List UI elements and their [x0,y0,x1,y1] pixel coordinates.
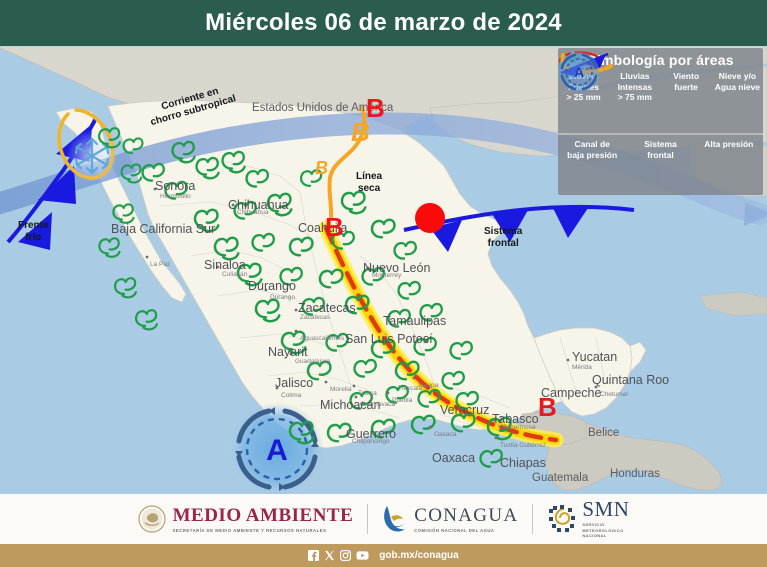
youtube-icon[interactable] [356,550,369,561]
logo-smn: SMN SERVICIO METEOROLÓGICO NACIONAL [547,499,629,539]
low-pressure-mark-coahuila: B [325,214,344,240]
trough-mark-north: B [351,119,370,145]
mexico-eagle-seal-icon [138,505,166,533]
smn-title: SMN [582,499,629,520]
logo-semarnat: MEDIO AMBIENTE SECRETARÍA DE MEDIO AMBIE… [138,505,354,533]
smn-subtitle: SERVICIO METEOROLÓGICO NACIONAL [582,522,629,539]
logo-conagua: CONAGUA COMISIÓN NACIONAL DEL AGUA [382,504,518,534]
legend-panel: Simbología por áreas Lluvias Fuertes > 2… [558,48,763,195]
weather-map[interactable]: A [0,46,767,494]
svg-text:A: A [266,434,288,467]
semarnat-title: MEDIO AMBIENTE [173,506,354,525]
legend-item-lluvias-intensas: Lluvias Intensas > 75 mm [609,71,660,130]
legend-item-alta-presion: Alta presión A [695,139,763,195]
logo-divider-2 [532,504,533,534]
conagua-subtitle: COMISIÓN NACIONAL DEL AGUA [414,528,518,533]
page-title: Miércoles 06 de marzo de 2024 [205,9,562,37]
semarnat-subtitle: SECRETARÍA DE MEDIO AMBIENTE Y RECURSOS … [173,528,354,533]
legend-item-sistema-frontal: Sistema frontal [626,139,694,195]
x-twitter-icon[interactable] [324,550,335,561]
legend-item-nieve-label: Nieve y/o Agua nieve [715,71,760,92]
legend-item-canal-label: Canal de baja presión [567,139,617,160]
instagram-icon[interactable] [340,550,351,561]
trough-mark-north-2: B [315,159,328,177]
logo-divider-1 [367,504,368,534]
conagua-title: CONAGUA [414,506,518,525]
footer-url[interactable]: gob.mx/conagua [379,550,458,561]
footer-logo-bar: MEDIO AMBIENTE SECRETARÍA DE MEDIO AMBIE… [0,494,767,544]
high-pressure-icon: A [558,51,600,93]
legend-item-sistema-frontal-label: Sistema frontal [644,139,677,160]
low-pressure-mark-campeche: B [538,394,557,420]
legend-item-canal-baja-presion: Canal de baja presión [558,139,626,195]
legend-item-viento-fuerte: Viento fuerte [661,71,712,130]
footer-social-bar: gob.mx/conagua [0,544,767,567]
facebook-icon[interactable] [308,550,319,561]
conagua-eagle-icon [382,504,408,534]
legend-item-nieve: Nieve y/o Agua nieve [712,71,763,130]
header-bar: Miércoles 06 de marzo de 2024 [0,0,767,46]
legend-item-alta-presion-label: Alta presión [704,139,753,150]
legend-item-viento-fuerte-label: Viento fuerte [673,71,699,92]
svg-text:A: A [574,64,584,80]
legend-item-lluvias-intensas-label: Lluvias Intensas > 75 mm [618,71,653,103]
smn-spiral-icon [547,504,577,534]
legend-row-systems: Canal de baja presión Sistema frontal [558,133,763,195]
